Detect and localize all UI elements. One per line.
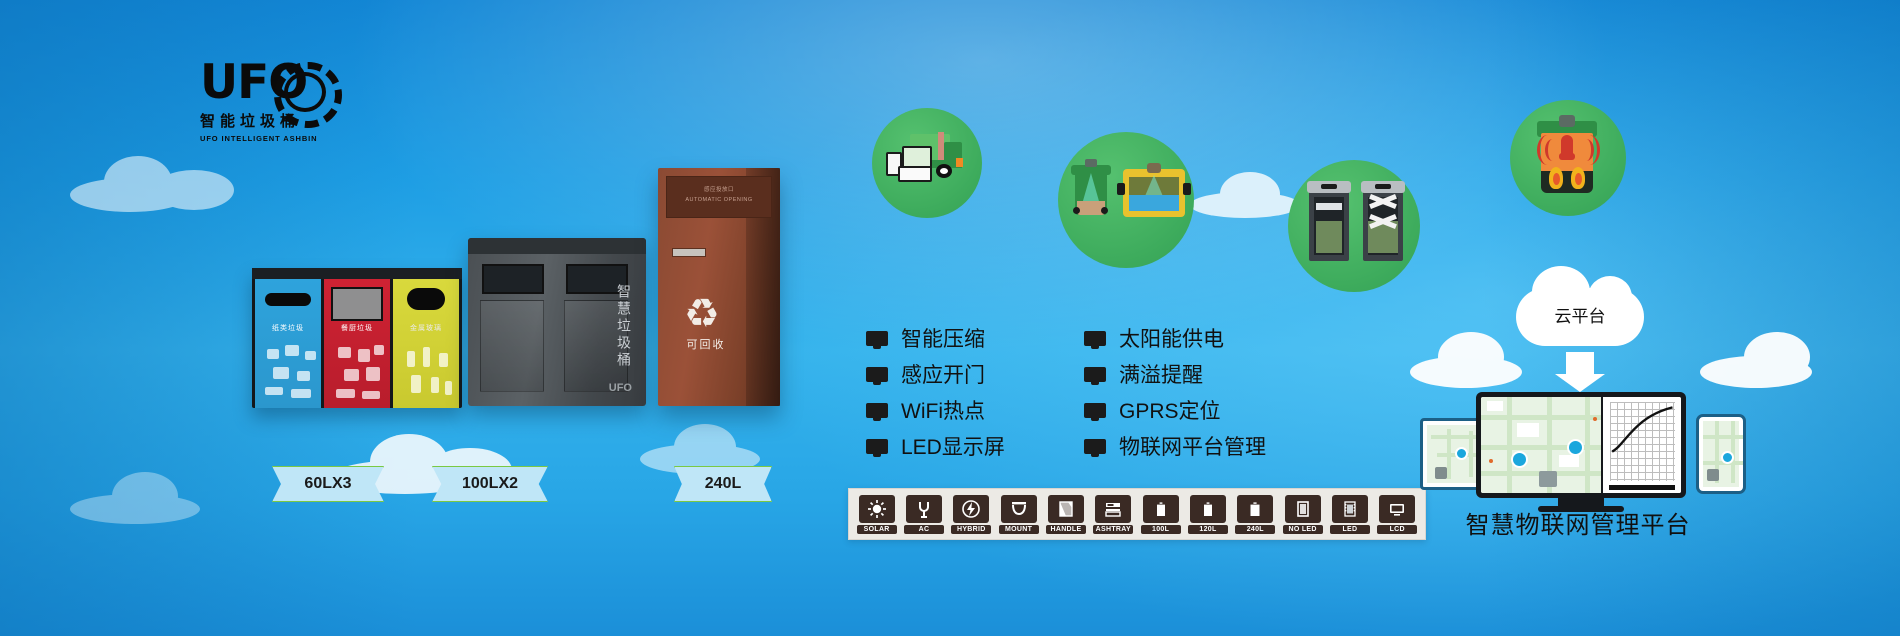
logo-english-name: UFO INTELLIGENT ASHBIN — [200, 134, 330, 143]
feature-label: 物联网平台管理 — [1119, 431, 1266, 461]
chart-baseline — [1609, 485, 1675, 490]
spec-caption: 120L — [1188, 525, 1228, 534]
spec-caption: 100L — [1141, 525, 1181, 534]
recycle-symbol-icon: ♻ — [684, 294, 728, 334]
ashtray-icon — [1095, 495, 1131, 523]
spec-caption: NO LED — [1283, 525, 1323, 534]
feature-item: 物联网平台管理 — [1084, 428, 1266, 464]
bin-graphic-kitchen — [330, 341, 384, 403]
lcd-screen-icon — [1379, 495, 1415, 523]
spec-icon-strip: SOLAR AC HYBRID MOUNT HANDLE — [848, 488, 1426, 540]
spec-item-lcd: LCD — [1376, 495, 1419, 534]
cloud-decoration-1 — [70, 150, 250, 220]
spec-item-mount: MOUNT — [997, 495, 1040, 534]
product-single-bin: 感应投放口 AUTOMATIC OPENING ♻ 可回收 — [658, 168, 780, 406]
fire-alarm-icon — [1523, 113, 1613, 203]
monitor-bullet-icon — [866, 331, 888, 346]
capacity-label-single-bin: 240L — [674, 466, 772, 502]
double-bin-hood — [468, 238, 646, 254]
feature-column-left: 智能压缩 感应开门 WiFi热点 LED显示屏 — [866, 320, 1005, 464]
feature-circle-fire-alarm — [1510, 100, 1626, 216]
monitor-screen — [1481, 397, 1681, 493]
bin-graphic-metal-glass — [399, 341, 453, 403]
spec-item-100l: 100L — [1139, 495, 1182, 534]
down-arrow-icon — [1566, 352, 1594, 374]
cloud-decoration-7 — [70, 470, 250, 530]
feature-label: 感应开门 — [901, 359, 985, 389]
sun-icon — [859, 495, 895, 523]
feature-label: 智能压缩 — [901, 323, 985, 353]
handle-icon — [1048, 495, 1084, 523]
wall-mount-icon — [1001, 495, 1037, 523]
double-bin-door-left — [480, 300, 544, 392]
monitor-bullet-icon — [1084, 439, 1106, 454]
feature-item: WiFi热点 — [866, 392, 1005, 428]
product-triple-bin: 纸类垃圾 餐厨垃圾 — [252, 268, 462, 408]
triple-bin-top — [252, 268, 462, 279]
spec-item-120l: 120L — [1186, 495, 1229, 534]
bin-compartment-paper: 纸类垃圾 — [255, 279, 321, 408]
spec-item-ac: AC — [902, 495, 945, 534]
spec-item-led: LED — [1328, 495, 1371, 534]
bin-compartment-kitchen: 餐厨垃圾 — [324, 279, 390, 408]
single-bin-hood: 感应投放口 AUTOMATIC OPENING — [666, 176, 772, 218]
bin-slot-round-icon — [407, 288, 445, 310]
spec-caption: HANDLE — [1046, 525, 1086, 534]
smartphone-device — [1696, 414, 1746, 494]
spec-item-handle: HANDLE — [1044, 495, 1087, 534]
desktop-monitor — [1476, 392, 1686, 498]
garbage-truck-icon — [884, 120, 970, 206]
feature-label: 满溢提醒 — [1119, 359, 1203, 389]
feature-item: GPRS定位 — [1084, 392, 1266, 428]
spec-caption: ASHTRAY — [1093, 525, 1133, 534]
spec-caption: LED — [1330, 525, 1370, 534]
spec-caption: AC — [904, 525, 944, 534]
double-bin-screen-left — [482, 264, 544, 294]
platform-caption: 智慧物联网管理平台 — [1428, 505, 1728, 540]
single-bin-card-reader — [672, 248, 706, 257]
bin-graphic-paper — [261, 341, 315, 403]
monitor-bullet-icon — [1084, 331, 1106, 346]
power-plug-icon — [906, 495, 942, 523]
feature-item: 太阳能供电 — [1084, 320, 1266, 356]
bin-label-metal-glass: 金属玻璃 — [393, 323, 459, 333]
capacity-label-double-bin: 100LX2 — [432, 466, 548, 502]
led-panel-icon — [1332, 495, 1368, 523]
monitor-bullet-icon — [866, 367, 888, 382]
map-panel — [1481, 397, 1601, 493]
bin-label-paper: 纸类垃圾 — [255, 323, 321, 333]
feature-item: 满溢提醒 — [1084, 356, 1266, 392]
bin-100l-icon — [1143, 495, 1179, 523]
fill-level-sensor-icon — [1073, 147, 1179, 253]
feature-label: 太阳能供电 — [1119, 323, 1224, 353]
spec-item-240l: 240L — [1234, 495, 1277, 534]
spec-caption: HYBRID — [951, 525, 991, 534]
feature-circle-auto-compaction — [1288, 160, 1420, 292]
bin-label-kitchen: 餐厨垃圾 — [324, 323, 390, 333]
bin-120l-icon — [1190, 495, 1226, 523]
feature-label: LED显示屏 — [901, 431, 1005, 461]
feature-item: LED显示屏 — [866, 428, 1005, 464]
monitor-bullet-icon — [1084, 367, 1106, 382]
spec-caption: SOLAR — [857, 525, 897, 534]
single-bin-recycle-label: 可回收 — [676, 336, 736, 352]
monitor-bullet-icon — [866, 403, 888, 418]
spec-item-no-led: NO LED — [1281, 495, 1324, 534]
single-bin-hood-text-en: AUTOMATIC OPENING — [667, 196, 771, 204]
compaction-bins-icon — [1303, 175, 1406, 278]
logo-inner-ring-icon — [284, 72, 326, 112]
double-bin-logo-text: UFO — [609, 382, 632, 394]
spec-caption: 240L — [1235, 525, 1275, 534]
no-led-icon — [1285, 495, 1321, 523]
spec-caption: MOUNT — [999, 525, 1039, 534]
monitor-bullet-icon — [866, 439, 888, 454]
phone-map-view — [1703, 421, 1739, 487]
feature-item: 感应开门 — [866, 356, 1005, 392]
hybrid-power-icon — [953, 495, 989, 523]
spec-item-ashtray: ASHTRAY — [1092, 495, 1135, 534]
capacity-label-triple-bin: 60LX3 — [272, 466, 384, 502]
bin-compartment-metal-glass: 金属玻璃 — [393, 279, 459, 408]
product-double-bin: 智慧垃圾桶 UFO — [468, 238, 646, 406]
bin-240l-icon — [1237, 495, 1273, 523]
spec-caption: LCD — [1377, 525, 1417, 534]
ufo-brand-logo: UFO 智能垃圾桶 UFO INTELLIGENT ASHBIN — [200, 58, 330, 148]
chart-panel — [1601, 397, 1681, 493]
feature-item: 智能压缩 — [866, 320, 1005, 356]
poster-canvas: UFO 智能垃圾桶 UFO INTELLIGENT ASHBIN 纸类垃圾 餐厨… — [0, 0, 1900, 636]
monitor-bullet-icon — [1084, 403, 1106, 418]
single-bin-hood-text-cn: 感应投放口 — [667, 186, 771, 194]
feature-circle-fill-level-sensor — [1058, 132, 1194, 268]
cloud-platform-label: 云平台 — [1516, 302, 1644, 327]
bin-panel — [331, 287, 383, 321]
feature-label: GPRS定位 — [1119, 395, 1221, 425]
feature-label: WiFi热点 — [901, 395, 985, 425]
feature-column-right: 太阳能供电 满溢提醒 GPRS定位 物联网平台管理 — [1084, 320, 1266, 464]
chart-curve — [1610, 402, 1675, 456]
bin-slot-icon — [265, 293, 311, 306]
spec-item-solar: SOLAR — [855, 495, 898, 534]
double-bin-side-text: 智慧垃圾桶 — [614, 284, 634, 369]
iot-platform-illustration: 云平台 — [1420, 288, 1750, 488]
spec-item-hybrid: HYBRID — [950, 495, 993, 534]
feature-circle-smart-collection-truck — [872, 108, 982, 218]
